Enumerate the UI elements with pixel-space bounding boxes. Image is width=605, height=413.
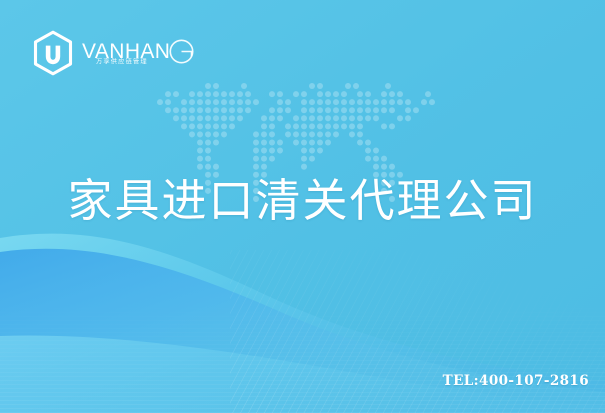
promo-banner: VANHAN 万享供应链管理 家具进口清关代理公司 TEL:400-107-28… [0, 0, 605, 413]
brand-logo[interactable]: VANHAN 万享供应链管理 [30, 28, 82, 78]
brand-tagline: 万享供应链管理 [96, 56, 148, 66]
page-title: 家具进口清关代理公司 [0, 176, 605, 226]
hexagon-u-logo-icon [30, 30, 76, 76]
contact-phone[interactable]: TEL:400-107-2816 [443, 373, 589, 389]
horizontal-line-texture-icon [0, 300, 605, 413]
